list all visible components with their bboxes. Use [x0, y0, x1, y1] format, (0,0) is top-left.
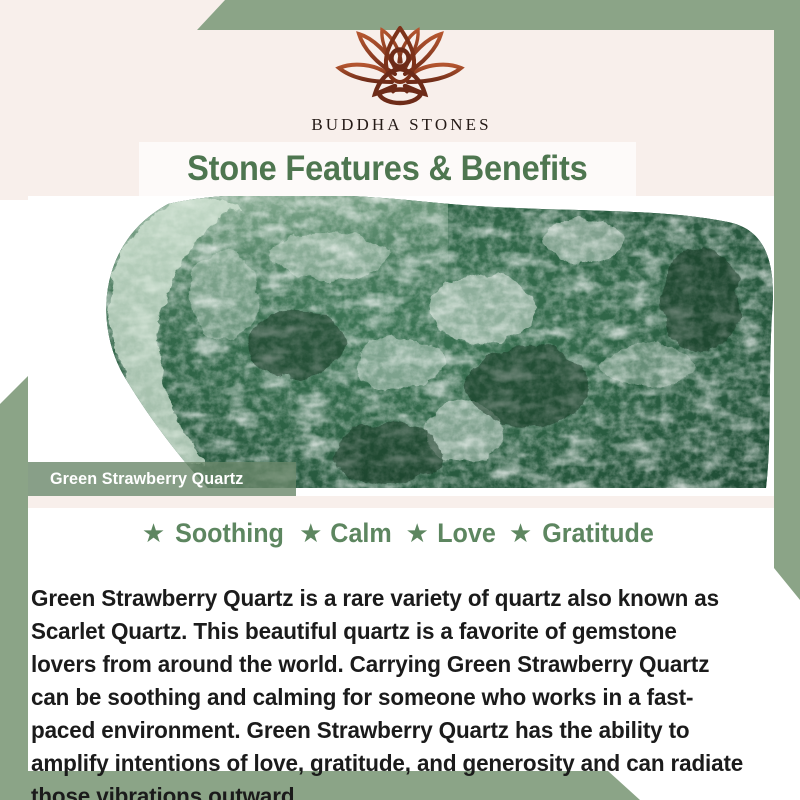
hero-caption-text: Green Strawberry Quartz [50, 469, 243, 489]
star-icon: ★ [142, 520, 165, 546]
feature-item-calm: ★ Calm [299, 518, 394, 549]
description-paragraph: Green Strawberry Quartz is a rare variet… [31, 582, 745, 800]
title-band: Stone Features & Benefits [139, 142, 636, 196]
feature-label: Soothing [175, 518, 284, 549]
brand-name: BUDDHA STONES [0, 115, 800, 135]
brand-logo: BUDDHA STONES [0, 24, 800, 135]
star-icon: ★ [299, 520, 322, 546]
page-title: Stone Features & Benefits [187, 149, 588, 189]
star-icon: ★ [509, 520, 532, 546]
hero-caption: Green Strawberry Quartz [28, 462, 296, 496]
feature-item-soothing: ★ Soothing [142, 518, 288, 549]
photo-bottom-divider [28, 496, 774, 508]
lotus-meditation-figure-icon [309, 24, 491, 112]
feature-item-gratitude: ★ Gratitude [509, 518, 658, 549]
feature-label: Gratitude [542, 518, 654, 549]
green-strawberry-quartz-photo [28, 196, 774, 496]
feature-item-love: ★ Love [405, 518, 497, 549]
star-icon: ★ [405, 520, 428, 546]
decorative-frame-left [0, 188, 28, 800]
feature-label: Calm [331, 518, 392, 549]
feature-list: ★ Soothing ★ Calm ★ Love ★ Gratitude [0, 518, 800, 549]
hero-image: Green Strawberry Quartz [28, 196, 774, 496]
feature-label: Love [437, 518, 496, 549]
poster-root: BUDDHA STONES Stone Features & Benefits [0, 0, 800, 800]
